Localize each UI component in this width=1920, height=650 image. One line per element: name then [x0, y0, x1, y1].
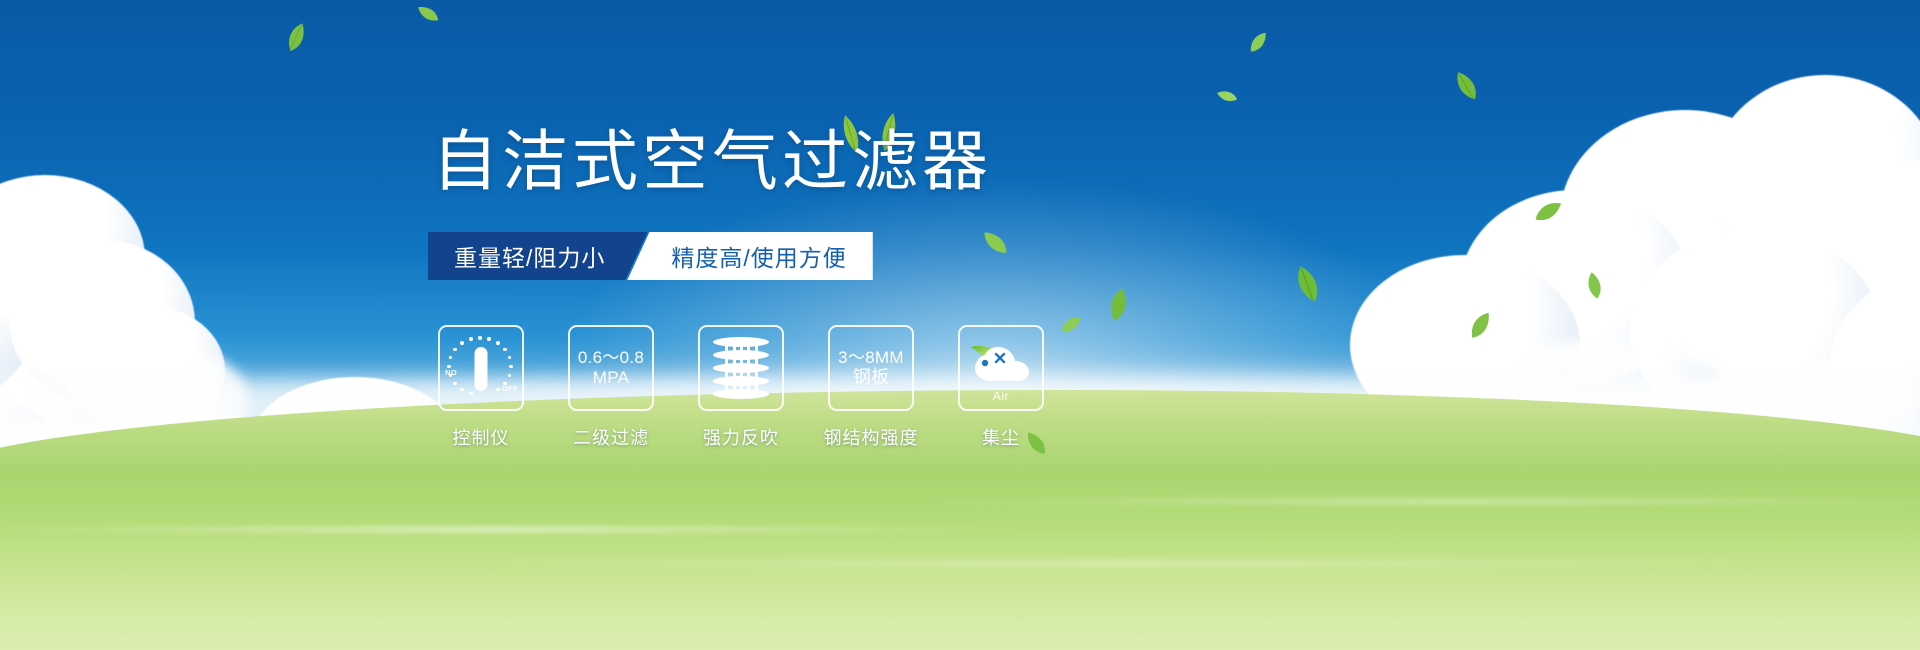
- steel-line-1: 3～8MM: [838, 348, 904, 368]
- pressure-line-1: 0.6～0.8: [578, 348, 644, 368]
- feature-item-dust-collection[interactable]: Air 集尘: [958, 325, 1044, 450]
- feature-item-strong-blowback[interactable]: 强力反吹: [698, 325, 784, 450]
- feature-label: 控制仪: [453, 424, 510, 450]
- banner-stage: 自洁式空气过滤器 重量轻/阻力小 精度高/使用方便: [0, 0, 1920, 650]
- feature-label: 强力反吹: [703, 424, 779, 450]
- feature-label: 集尘: [982, 424, 1020, 450]
- feature-icon-box: NO OFF: [438, 325, 524, 411]
- tagline-badges: 重量轻/阻力小 精度高/使用方便: [428, 232, 873, 280]
- steel-plate-text-icon: 3～8MM 钢板: [838, 348, 904, 389]
- steel-line-2: 钢板: [838, 367, 904, 388]
- feature-icon-box: 0.6～0.8 MPA: [568, 325, 654, 411]
- feature-icon-box: Air: [958, 325, 1044, 411]
- feature-item-steel-structure[interactable]: 3～8MM 钢板 钢结构强度: [828, 325, 914, 450]
- dial-label-off: OFF: [502, 384, 518, 393]
- badge-lightweight-lowresistance[interactable]: 重量轻/阻力小: [428, 232, 647, 280]
- badge-highprecision-easyuse[interactable]: 精度高/使用方便: [627, 232, 872, 280]
- pressure-line-2: MPA: [578, 368, 644, 388]
- filter-coil-icon: [713, 337, 769, 399]
- air-cloud-icon: Air: [969, 341, 1033, 395]
- page-title: 自洁式空气过滤器: [432, 128, 992, 194]
- pressure-text-icon: 0.6～0.8 MPA: [578, 348, 644, 387]
- feature-item-controller[interactable]: NO OFF 控制仪: [438, 325, 524, 450]
- banner-content: 自洁式空气过滤器 重量轻/阻力小 精度高/使用方便: [0, 0, 1920, 650]
- feature-item-two-stage-filter[interactable]: 0.6～0.8 MPA 二级过滤: [568, 325, 654, 450]
- feature-label: 钢结构强度: [824, 424, 919, 450]
- feature-icon-box: 3～8MM 钢板: [828, 325, 914, 411]
- air-label: Air: [969, 389, 1033, 403]
- feature-list: NO OFF 控制仪 0.6～0.8 MPA 二级过滤: [438, 325, 1044, 450]
- dial-knob-icon: NO OFF: [445, 335, 517, 401]
- feature-icon-box: [698, 325, 784, 411]
- dial-label-no: NO: [445, 368, 457, 377]
- feature-label: 二级过滤: [573, 424, 649, 450]
